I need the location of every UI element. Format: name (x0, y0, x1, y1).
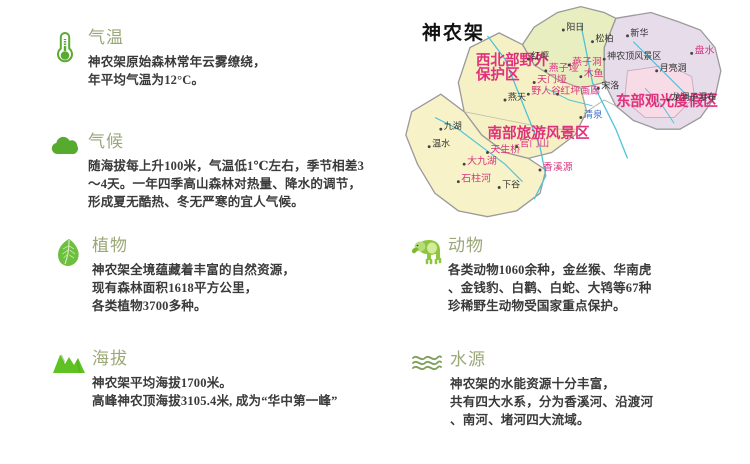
map-label-place-10: 燕子洞 (572, 56, 602, 68)
plants-heading: 植物 (92, 236, 295, 256)
animals-heading: 动物 (448, 236, 652, 256)
map-label-region-nw2: 保护区 (475, 66, 520, 84)
map-label-place-12: 野人谷 (531, 85, 561, 97)
map-label-place-19: 官门山 (520, 137, 550, 150)
section-water: 水源 神农架的水能资源十分丰富， 共有四大水系，分为香溪河、沿渡河 、南河、堵河… (406, 350, 746, 429)
temperature-body: 神农架原始森林常年云雾缭绕， 年平均气温为12°C。 (88, 53, 266, 89)
cloud-icon (44, 132, 86, 174)
section-plants: 植物 神农架全境蕴藏着丰富的自然资源， 现有森林面积1618平方公里， 各类植物… (48, 236, 400, 315)
altitude-body: 神农架平均海拔1700米。 高峰神农顶海拔3105.4米, 成为“华中第一峰” (92, 374, 338, 410)
animals-text-wrap: 动物 各类动物1060余种，金丝猴、华南虎 、金钱豹、白鹳、白蛇、大鸨等67种 … (446, 236, 652, 315)
map-label-place-7: 大九湖 (467, 154, 497, 167)
map-label-place-14: 神农顶风景区 (607, 50, 661, 61)
map-label-place-17: 宋洛 (601, 79, 619, 90)
map-label-place-3: 新华 (630, 27, 648, 38)
climate-heading: 气候 (88, 132, 364, 152)
animals-body: 各类动物1060余种，金丝猴、华南虎 、金钱豹、白鹳、白蛇、大鸨等67种 珍稀野… (448, 261, 652, 315)
water-heading: 水源 (450, 350, 653, 370)
map-label-place-20: 香溪源 (543, 160, 573, 173)
map-title: 神农架 (422, 18, 485, 45)
climate-text-wrap: 气候 随海拔每上升100米，气温低1℃左右，季节相差3 ～4天。一年四季高山森林… (86, 132, 364, 211)
thermometer-icon (44, 28, 86, 70)
map-label-place-22: 下谷 (502, 180, 520, 190)
climate-body: 随海拔每上升100米，气温低1℃左右，季节相差3 ～4天。一年四季高山森林对热量… (88, 157, 364, 211)
map-label-place-6: 九湖 (444, 121, 462, 131)
map-label-place-5: 红坪 (531, 50, 549, 61)
plants-body: 神农架全境蕴藏着丰富的自然资源， 现有森林面积1618平方公里， 各类植物370… (92, 261, 295, 315)
map-label-place-8: 燕天 (508, 91, 526, 102)
map-label-place-16: 龙洞子瀑布 (671, 91, 716, 102)
section-climate: 气候 随海拔每上升100米，气温低1℃左右，季节相差3 ～4天。一年四季高山森林… (44, 132, 404, 211)
altitude-text-wrap: 海拔 神农架平均海拔1700米。 高峰神农顶海拔3105.4米, 成为“华中第一… (90, 349, 338, 410)
map-label-place-21: 石柱河 (461, 172, 491, 185)
infographic-page: 神农架 西北部野外 保护区 南部旅游风景区 (0, 0, 750, 464)
region-map: 神农架 西北部野外 保护区 南部旅游风景区 (400, 0, 750, 235)
plants-text-wrap: 植物 神农架全境蕴藏着丰富的自然资源， 现有森林面积1618平方公里， 各类植物… (90, 236, 295, 315)
map-label-place-1: 阳日 (566, 22, 584, 32)
map-label-place-2: 松柏 (595, 33, 613, 44)
map-label-place-24: 清泉 (584, 108, 603, 119)
map-label-place-25: 盘水 (695, 43, 715, 56)
map-label-place-11: 天门垭 (537, 73, 567, 86)
temperature-heading: 气温 (88, 28, 266, 48)
leaf-icon (48, 236, 90, 278)
temperature-text-wrap: 气温 神农架原始森林常年云雾缭绕， 年平均气温为12°C。 (86, 28, 266, 89)
water-body: 神农架的水能资源十分丰富， 共有四大水系，分为香溪河、沿渡河 、南河、堵河四大流… (450, 375, 653, 429)
map-label-place-15: 月亮洞 (660, 62, 687, 73)
section-altitude: 海拔 神农架平均海拔1700米。 高峰神农顶海拔3105.4米, 成为“华中第一… (48, 349, 408, 410)
water-text-wrap: 水源 神农架的水能资源十分丰富， 共有四大水系，分为香溪河、沿渡河 、南河、堵河… (448, 350, 653, 429)
elephant-icon (404, 236, 446, 278)
section-animals: 动物 各类动物1060余种，金丝猴、华南虎 、金钱豹、白鹳、白蛇、大鸨等67种 … (404, 236, 744, 315)
map-label-place-4: 木鱼 (584, 67, 604, 80)
map-label-place-13: 红坪画廊 (560, 84, 600, 97)
section-temperature: 气温 神农架原始森林常年云雾缭绕， 年平均气温为12°C。 (44, 28, 396, 89)
mountain-icon (48, 349, 90, 391)
map-label-place-18: 天生桥 (490, 143, 520, 156)
map-label-place-23: 温水 (432, 138, 450, 149)
altitude-heading: 海拔 (92, 349, 338, 369)
waves-icon (406, 350, 448, 392)
